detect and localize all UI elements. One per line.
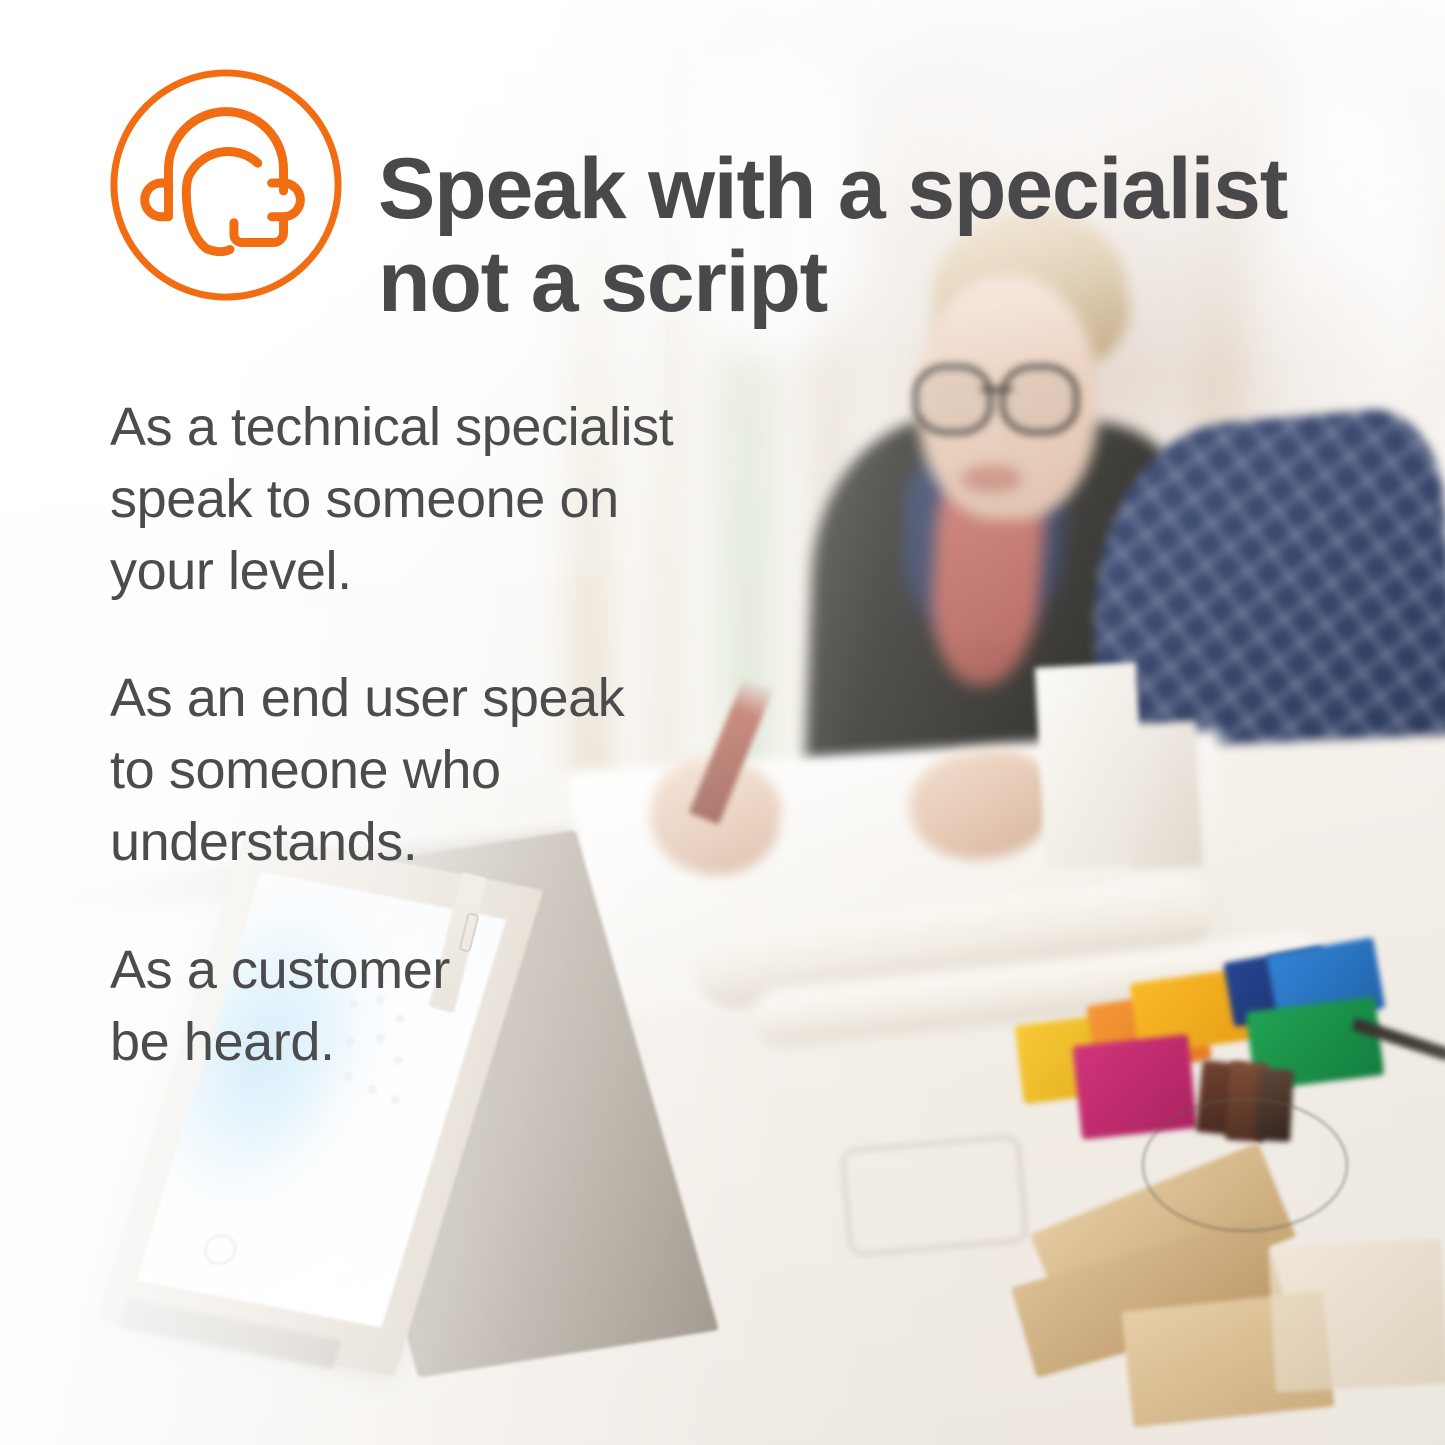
body-copy: As a technical specialist speak to someo… <box>110 392 810 1079</box>
headline-line-2: not a script <box>378 236 1368 330</box>
paragraph-line: As a technical specialist <box>110 392 810 464</box>
paragraph-line: understands. <box>110 807 810 879</box>
paragraph-line: As an end user speak <box>110 663 810 735</box>
paragraph-line: As a customer <box>110 935 810 1007</box>
paragraph-line: to someone who <box>110 735 810 807</box>
paragraph-technical-specialist: As a technical specialist speak to someo… <box>110 392 810 607</box>
promo-graphic: Speak with a specialist not a script As … <box>0 0 1445 1445</box>
paragraph-line: be heard. <box>110 1007 810 1079</box>
page-title: Speak with a specialist not a script <box>378 143 1368 330</box>
paragraph-end-user: As an end user speak to someone who unde… <box>110 663 810 878</box>
headset-support-icon <box>107 66 345 304</box>
paragraph-customer: As a customer be heard. <box>110 935 810 1079</box>
paragraph-line: your level. <box>110 536 810 608</box>
headline-line-1: Speak with a specialist <box>378 143 1368 237</box>
paragraph-line: speak to someone on <box>110 464 810 536</box>
